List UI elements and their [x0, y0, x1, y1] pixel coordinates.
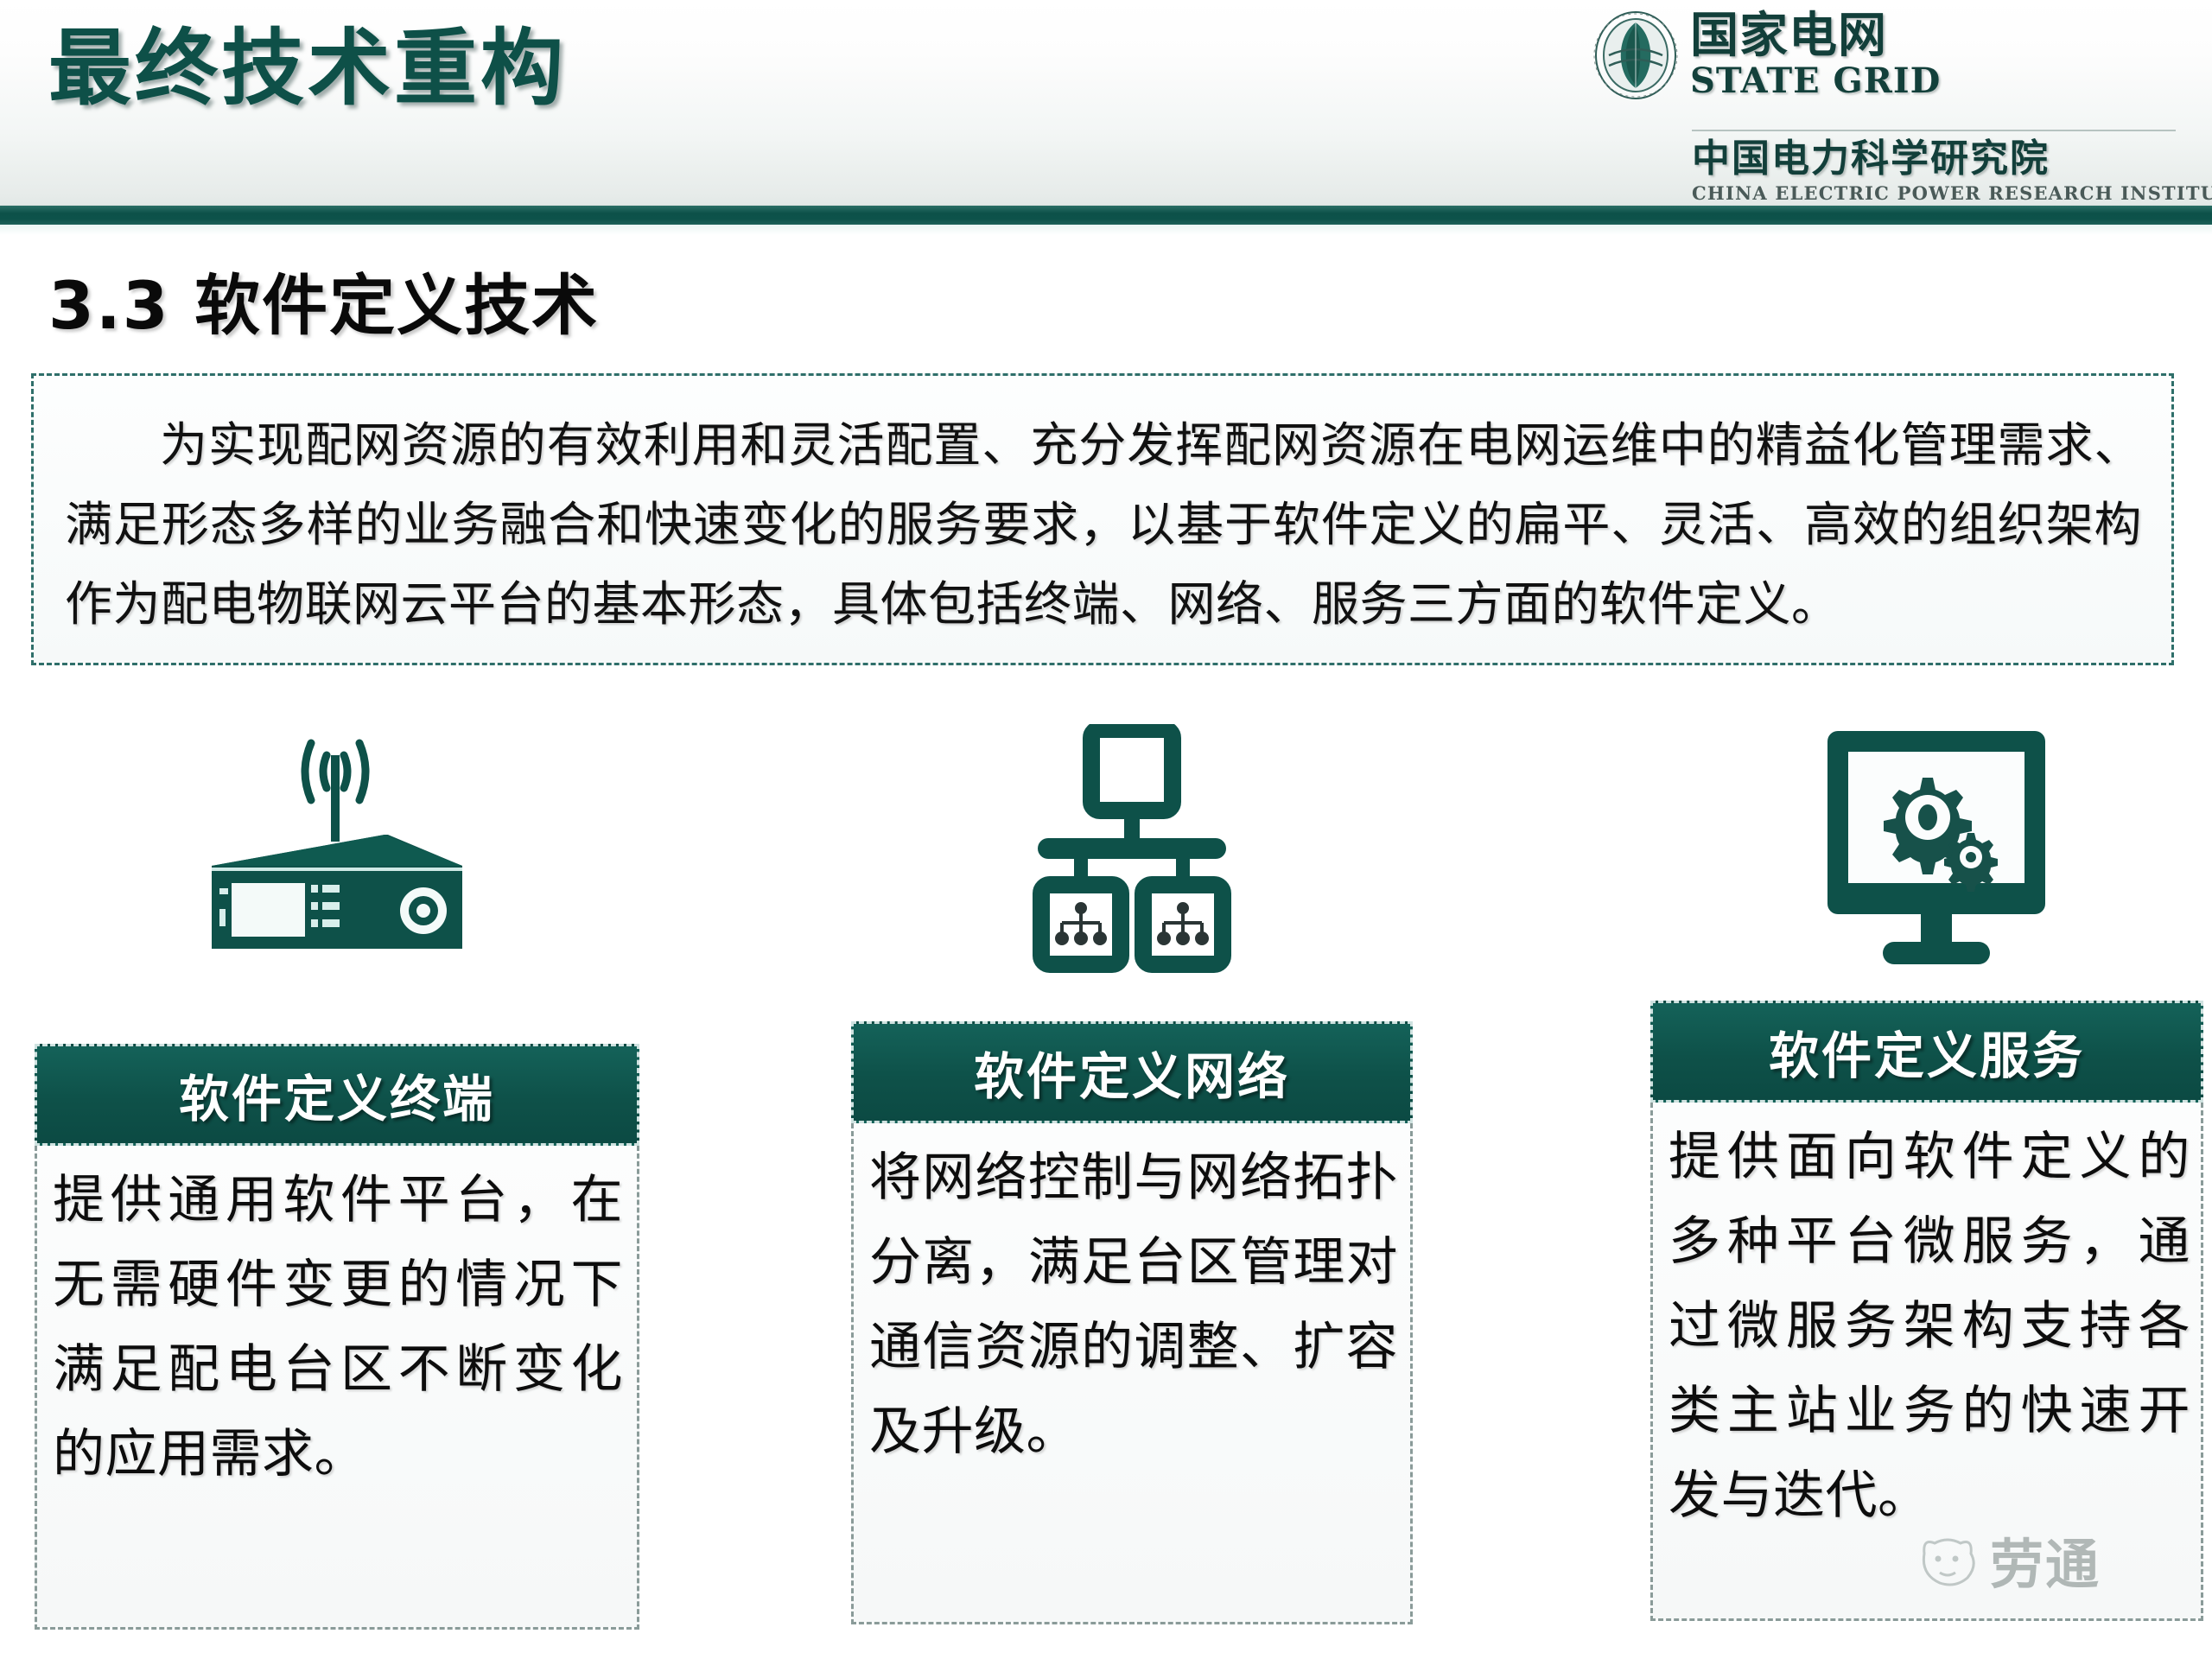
card-body: 将网络控制与网络拓扑分离，满足台区管理对通信资源的调整、扩容及升级。: [851, 1123, 1413, 1624]
intro-paragraph-box: 为实现配网资源的有效利用和灵活配置、充分发挥配网资源在电网运维中的精益化管理需求…: [31, 373, 2174, 665]
card-title: 软件定义终端: [179, 1058, 495, 1131]
network-topology-icon: [1024, 724, 1240, 978]
card-software-defined-terminal: 软件定义终端 提供通用软件平台，在无需硬件变更的情况下满足配电台区不断变化的应用…: [35, 1044, 639, 1630]
brand-logo-block: 国家电网 STATE GRID 中国电力科学研究院 CHINA ELECTRIC…: [1593, 7, 2190, 207]
card-banner: 软件定义网络: [851, 1021, 1413, 1123]
card-banner: 软件定义终端: [35, 1044, 639, 1146]
header-accent-rule-shine: [0, 225, 2212, 235]
card-software-defined-service: 软件定义服务 提供面向软件定义的多种平台微服务，通过微服务架构支持各类主站业务的…: [1650, 1001, 2203, 1621]
card-body: 提供通用软件平台，在无需硬件变更的情况下满足配电台区不断变化的应用需求。: [35, 1146, 639, 1630]
page-title: 最终技术重构: [48, 21, 567, 116]
header-accent-rule: [0, 206, 2212, 225]
slide-header: 最终技术重构 国家电网 STATE GRID: [0, 0, 2212, 214]
card-title: 软件定义服务: [1769, 1015, 2085, 1088]
brand-company-cn: 国家电网: [1690, 8, 1887, 64]
brand-company-en: STATE GRID: [1690, 63, 1941, 99]
intro-paragraph-text: 为实现配网资源的有效利用和灵活配置、充分发挥配网资源在电网运维中的精益化管理需求…: [65, 405, 2142, 644]
card-banner: 软件定义服务: [1650, 1001, 2203, 1103]
brand-wordmark: 国家电网 STATE GRID: [1690, 11, 1941, 99]
card-software-defined-network: 软件定义网络 将网络控制与网络拓扑分离，满足台区管理对通信资源的调整、扩容及升级…: [851, 1021, 1413, 1624]
card-title: 软件定义网络: [974, 1036, 1290, 1109]
brand-institute-en: CHINA ELECTRIC POWER RESEARCH INSTITUTE: [1692, 182, 2193, 204]
router-terminal-icon: [173, 724, 501, 978]
section-heading: 3.3 软件定义技术: [48, 252, 599, 347]
brand-institute-cn: 中国电力科学研究院: [1692, 138, 2193, 180]
state-grid-globe-logo-icon: [1593, 10, 1678, 100]
card-body-text: 提供通用软件平台，在无需硬件变更的情况下满足配电台区不断变化的应用需求。: [53, 1158, 623, 1497]
brand-divider: [1692, 130, 2176, 131]
brand-institute-block: 中国电力科学研究院 CHINA ELECTRIC POWER RESEARCH …: [1692, 138, 2193, 204]
brand-logo-top: 国家电网 STATE GRID: [1593, 10, 1941, 100]
card-body-text: 将网络控制与网络拓扑分离，满足台区管理对通信资源的调整、扩容及升级。: [869, 1135, 1398, 1474]
card-body-text: 提供面向软件定义的多种平台微服务，通过微服务架构支持各类主站业务的快速开发与迭代…: [1669, 1115, 2190, 1538]
monitor-gears-icon: [1819, 724, 2061, 978]
card-body: 提供面向软件定义的多种平台微服务，通过微服务架构支持各类主站业务的快速开发与迭代…: [1650, 1103, 2203, 1621]
